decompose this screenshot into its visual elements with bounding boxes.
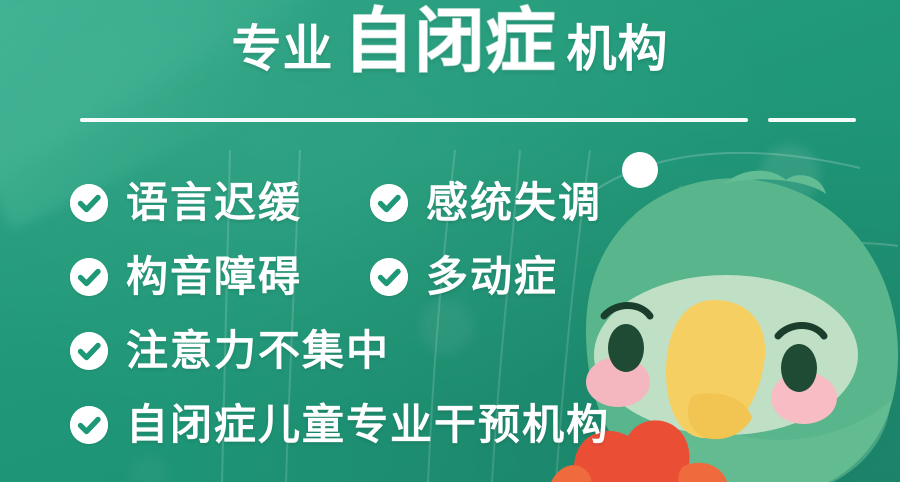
poster-headline: 专业 自闭症 机构 [0,2,900,88]
check-circle-icon [70,184,108,222]
header-divider-right [768,118,856,122]
checklist-item[interactable]: 感统失调 [370,180,650,226]
autism-institution-poster: ✕ [0,0,900,482]
check-circle-icon [370,184,408,222]
checklist-item-label: 构音障碍 [126,254,302,300]
checklist-item[interactable]: 构音障碍 [70,254,370,300]
checklist-row: 构音障碍 多动症 [70,240,670,314]
headline-suffix: 机构 [567,9,669,81]
headline-prefix: 专业 [232,9,334,81]
checklist-item-label: 多动症 [426,254,558,300]
checklist-item[interactable]: 语言迟缓 [70,180,370,226]
check-circle-icon [70,406,108,444]
check-circle-icon [70,258,108,296]
checklist-item[interactable]: 多动症 [370,254,650,300]
header-divider-left [80,118,748,122]
check-circle-icon [70,332,108,370]
checklist-item-label: 感统失调 [426,180,602,226]
service-checklist: 语言迟缓 感统失调 构音障 [70,166,670,462]
check-circle-icon [370,258,408,296]
checklist-item[interactable]: 自闭症儿童专业干预机构 [70,402,630,448]
checklist-row: 语言迟缓 感统失调 [70,166,670,240]
checklist-row: 注意力不集中 [70,314,670,388]
checklist-item[interactable]: 注意力不集中 [70,328,630,374]
headline-emphasis: 自闭症 [344,6,557,76]
checklist-item-label: 自闭症儿童专业干预机构 [126,402,610,448]
checklist-item-label: 注意力不集中 [126,328,390,374]
checklist-row: 自闭症儿童专业干预机构 [70,388,670,462]
checklist-item-label: 语言迟缓 [126,180,302,226]
